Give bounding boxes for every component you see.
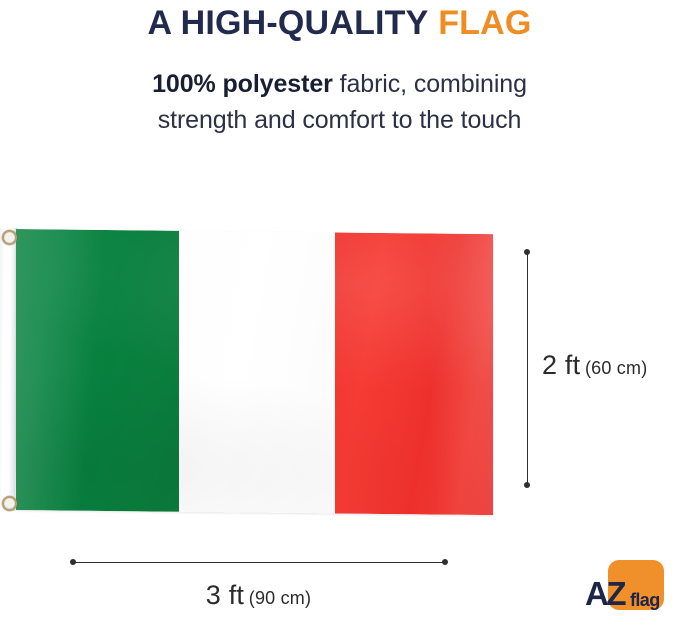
page-subtitle-line-1: 100% polyester fabric, combining (0, 66, 679, 102)
flag-stripe-white (179, 231, 335, 514)
dimension-endpoint-width-right (442, 559, 448, 565)
dimension-endpoint-height-top (524, 249, 530, 255)
page-subtitle: 100% polyester fabric, combining strengt… (0, 66, 679, 138)
flag-product-image (0, 228, 493, 511)
grommet-icon-bottom (2, 496, 17, 511)
flag-tricolor-body (16, 229, 493, 515)
dimension-endpoint-width-left (70, 559, 76, 565)
page-subtitle-line-1-rest: fabric, combining (333, 70, 527, 98)
brand-logo-azflag: AZ flag (576, 558, 672, 620)
brand-logo-wordmark: flag (630, 591, 660, 609)
page-title-primary: A HIGH-QUALITY (147, 4, 428, 42)
page-title-space (429, 4, 439, 42)
product-feature-graphic: A HIGH-QUALITY FLAG 100% polyester fabri… (0, 0, 679, 631)
dimension-height-value: 2 ft (542, 350, 580, 380)
dimension-width-metric: (90 cm) (249, 588, 311, 608)
page-title: A HIGH-QUALITY FLAG (0, 2, 679, 44)
grommet-icon-top (2, 230, 17, 245)
page-subtitle-emphasis: 100% polyester (152, 70, 333, 98)
page-title-accent: FLAG (438, 4, 531, 42)
dimension-width-value: 3 ft (206, 580, 244, 610)
brand-logo-mark: AZ (585, 577, 624, 610)
dimension-line-width (73, 562, 445, 563)
dimension-label-width: 3 ft (90 cm) (0, 580, 517, 611)
dimension-line-height (527, 252, 528, 485)
dimension-endpoint-height-bottom (524, 482, 530, 488)
flag-stripe-green (16, 229, 179, 512)
page-subtitle-line-2: strength and comfort to the touch (0, 102, 679, 138)
dimension-label-height: 2 ft (60 cm) (542, 350, 647, 381)
flag-stripe-red (335, 232, 493, 515)
dimension-height-metric: (60 cm) (585, 358, 647, 378)
